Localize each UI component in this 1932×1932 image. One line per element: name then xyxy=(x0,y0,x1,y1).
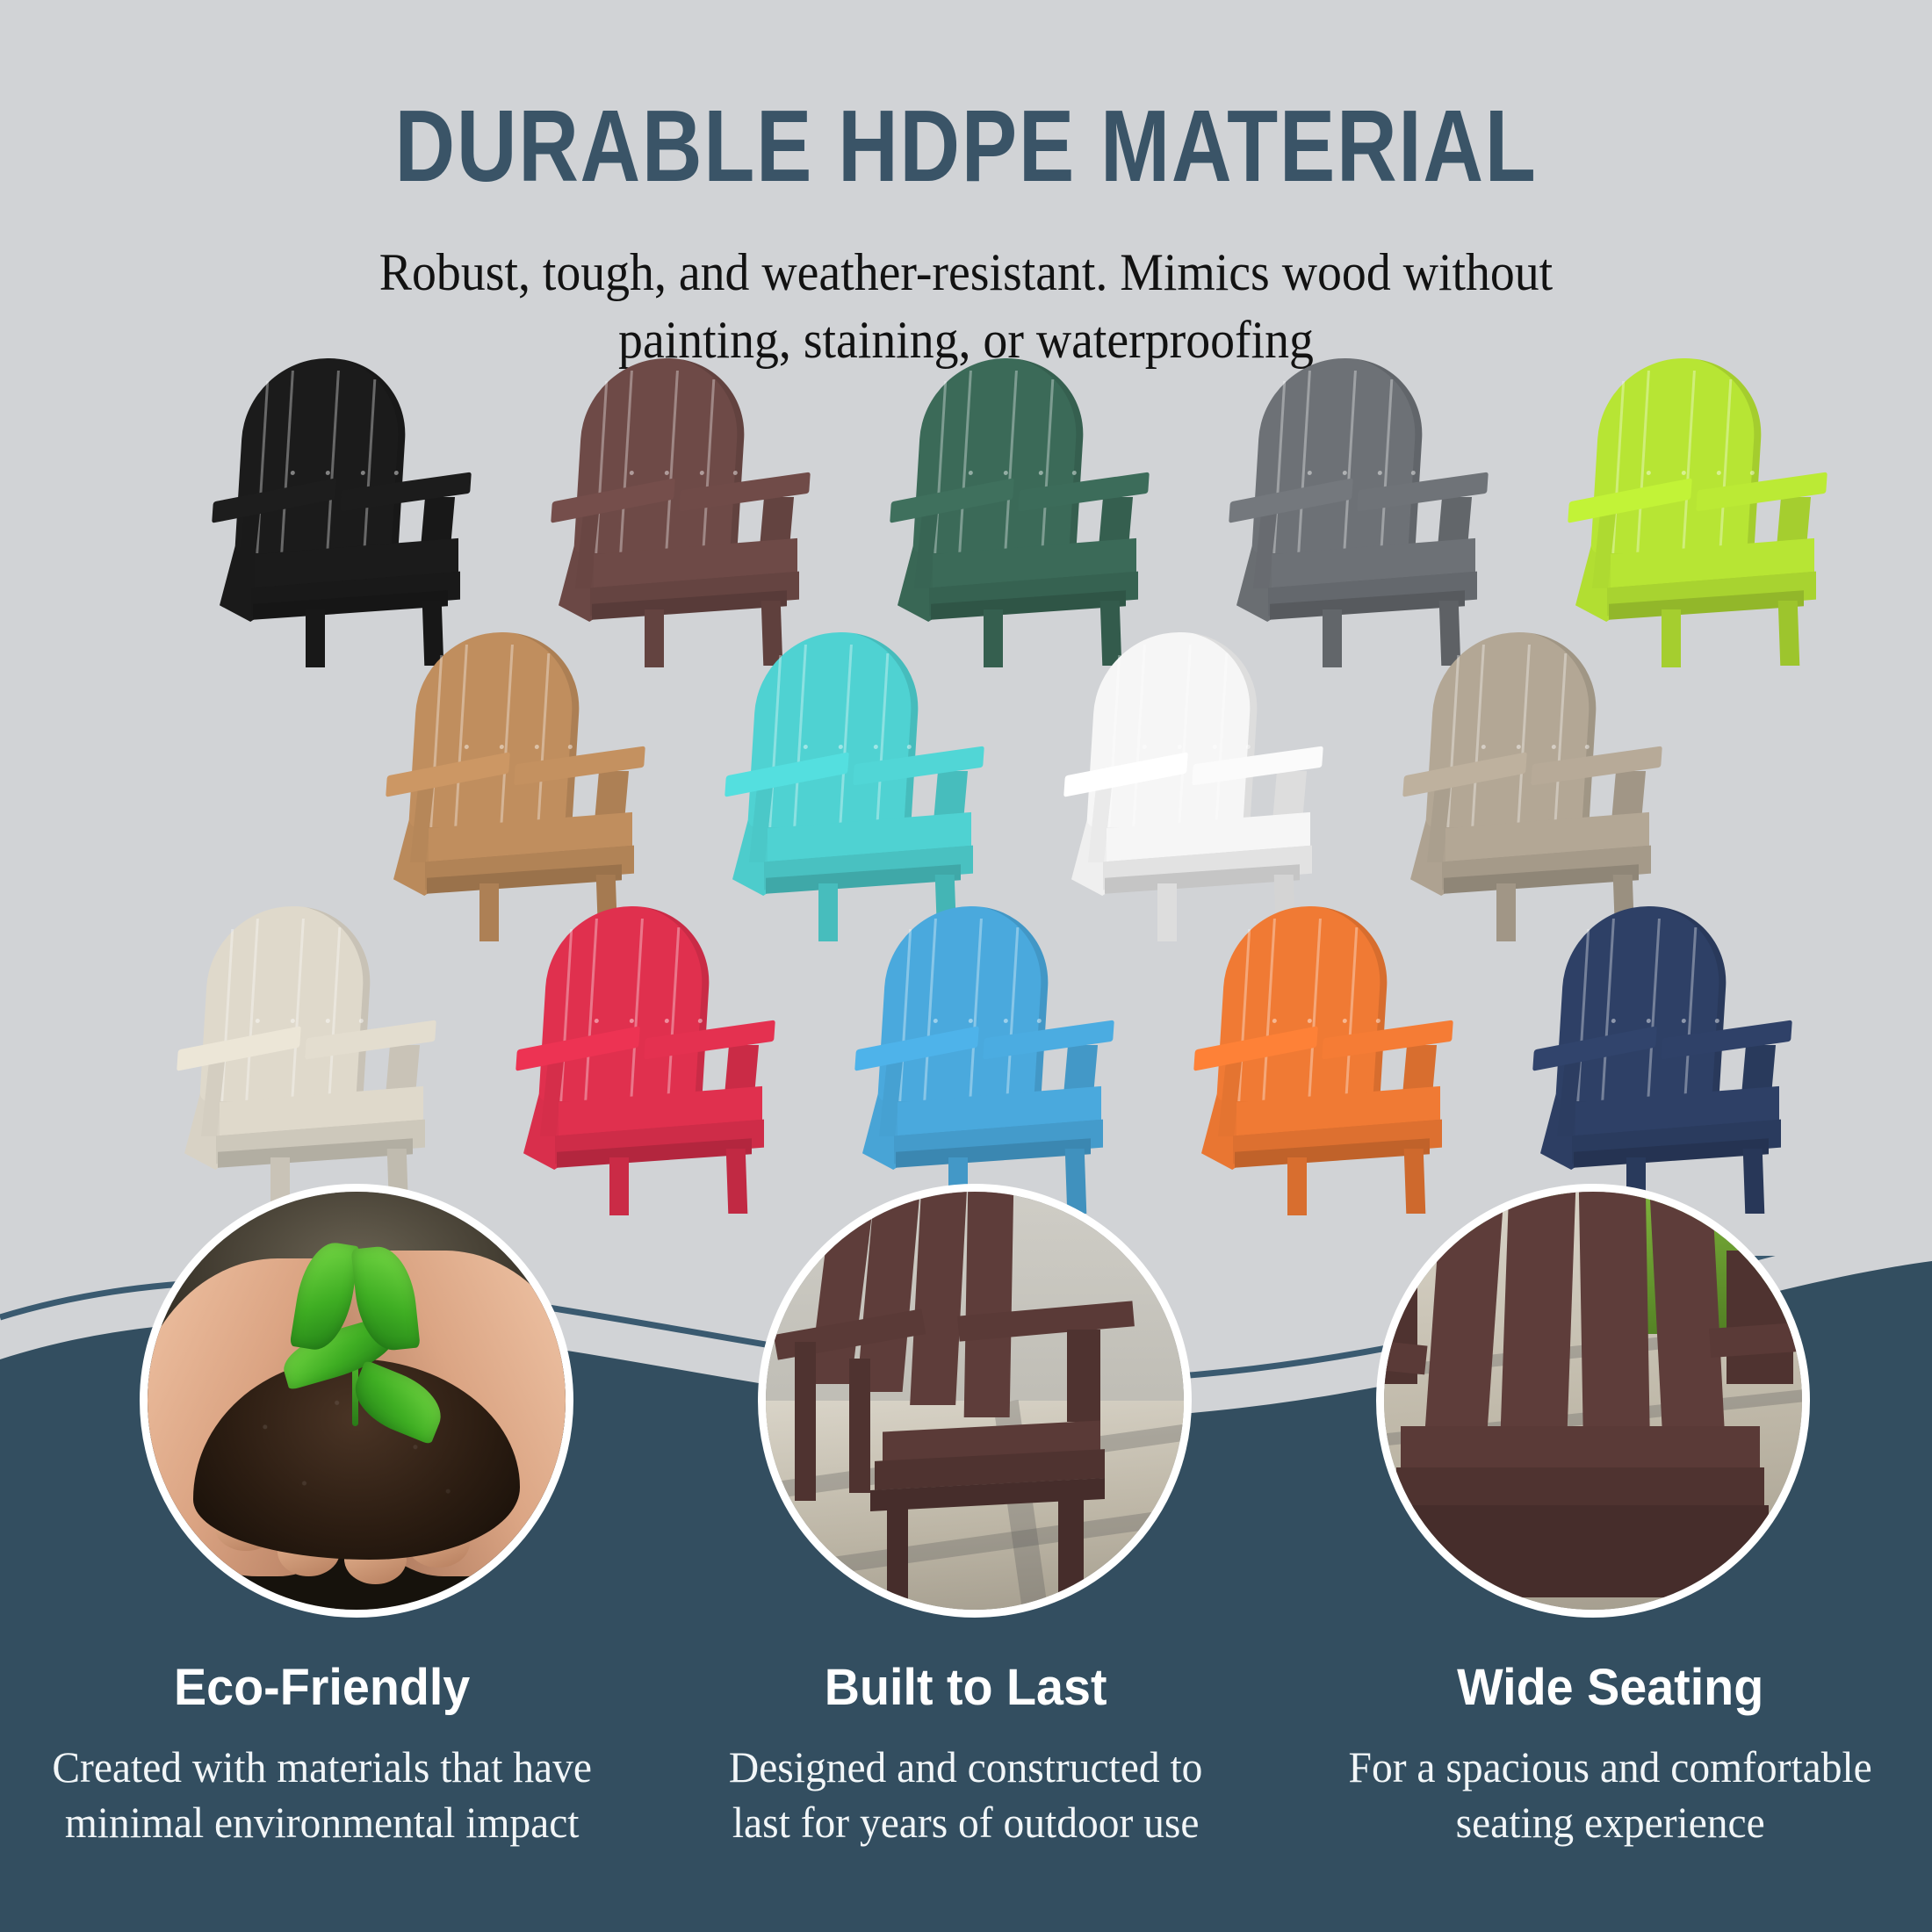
page-subtitle: Robust, tough, and weather-resistant. Mi… xyxy=(68,239,1864,374)
chair-swatch-light-blue[interactable] xyxy=(843,906,1115,1196)
chair-swatch-black[interactable] xyxy=(200,358,472,648)
chair-back-slats xyxy=(199,906,375,1101)
chair-swatch-teak[interactable] xyxy=(374,632,646,922)
feature-captions: Eco-Friendly Created with materials that… xyxy=(0,1658,1932,1850)
subtitle-line-1: Robust, tough, and weather-resistant. Mi… xyxy=(68,239,1864,306)
chair-back-slats xyxy=(538,906,714,1101)
chair-swatch-dark-brown[interactable] xyxy=(539,358,811,648)
chair-back-slats xyxy=(1086,632,1262,827)
chair-back-slats xyxy=(408,632,584,827)
feature-body: Designed and constructed to last for yea… xyxy=(683,1740,1248,1850)
wide-seat-closeup-photo xyxy=(1376,1184,1810,1618)
chair-swatch-dark-green[interactable] xyxy=(878,358,1150,648)
chair-back-slats xyxy=(912,358,1088,553)
feature-caption-3: Wide Seating For a spacious and comforta… xyxy=(1288,1658,1932,1850)
chair-swatch-orange[interactable] xyxy=(1182,906,1454,1196)
chair-swatch-gray[interactable] xyxy=(1217,358,1489,648)
photo-content xyxy=(766,1192,1184,1610)
feature-heading: Wide Seating xyxy=(1324,1658,1895,1717)
chair-swatch-turquoise[interactable] xyxy=(713,632,985,922)
feature-body-line-2: minimal environmental impact xyxy=(65,1798,580,1847)
feature-photos xyxy=(0,1184,1932,1640)
chair-back-slats xyxy=(1590,358,1766,553)
chair-row-1 xyxy=(0,358,1932,648)
feature-body-line-2: seating experience xyxy=(1455,1798,1764,1847)
chair-swatch-ivory[interactable] xyxy=(165,906,437,1196)
photo-content xyxy=(148,1192,566,1610)
chair-swatch-white[interactable] xyxy=(1052,632,1324,922)
chair-swatch-red[interactable] xyxy=(504,906,776,1196)
chair-swatch-lime-green[interactable] xyxy=(1556,358,1828,648)
chair-color-grid xyxy=(0,358,1932,1196)
feature-body: Created with materials that have minimal… xyxy=(40,1740,604,1850)
brown-adirondack-chair-patio-photo xyxy=(758,1184,1192,1618)
feature-body-line-1: For a spacious and comfortable xyxy=(1348,1742,1871,1791)
chair-swatch-navy-blue[interactable] xyxy=(1521,906,1793,1196)
feature-caption-1: Eco-Friendly Created with materials that… xyxy=(0,1658,644,1850)
chair-back-slats xyxy=(1555,906,1731,1101)
chair-back-slats xyxy=(747,632,923,827)
feature-body-line-1: Designed and constructed to xyxy=(729,1742,1203,1791)
feature-body: For a spacious and comfortable seating e… xyxy=(1328,1740,1892,1850)
hands-holding-seedling-photo xyxy=(140,1184,573,1618)
chair-swatch-weathered-wood[interactable] xyxy=(1391,632,1663,922)
chair-back-slats xyxy=(234,358,410,553)
chair-back-slats xyxy=(1251,358,1427,553)
chair-back-slats xyxy=(877,906,1053,1101)
chair-back-slats xyxy=(1216,906,1392,1101)
chair-row-2 xyxy=(0,632,1932,922)
chair-back-slats xyxy=(1425,632,1601,827)
chair-row-3 xyxy=(0,906,1932,1196)
chair-back-slats xyxy=(573,358,749,553)
header-block: DURABLE HDPE MATERIAL Robust, tough, and… xyxy=(0,0,1932,374)
page-title: DURABLE HDPE MATERIAL xyxy=(174,95,1758,197)
photo-content xyxy=(1384,1192,1802,1610)
infographic-stage: DURABLE HDPE MATERIAL Robust, tough, and… xyxy=(0,0,1932,1932)
feature-caption-2: Built to Last Designed and constructed t… xyxy=(644,1658,1287,1850)
feature-heading: Eco-Friendly xyxy=(37,1658,608,1717)
feature-body-line-1: Created with materials that have xyxy=(52,1742,592,1791)
feature-body-line-2: last for years of outdoor use xyxy=(732,1798,1200,1847)
feature-heading: Built to Last xyxy=(681,1658,1251,1717)
